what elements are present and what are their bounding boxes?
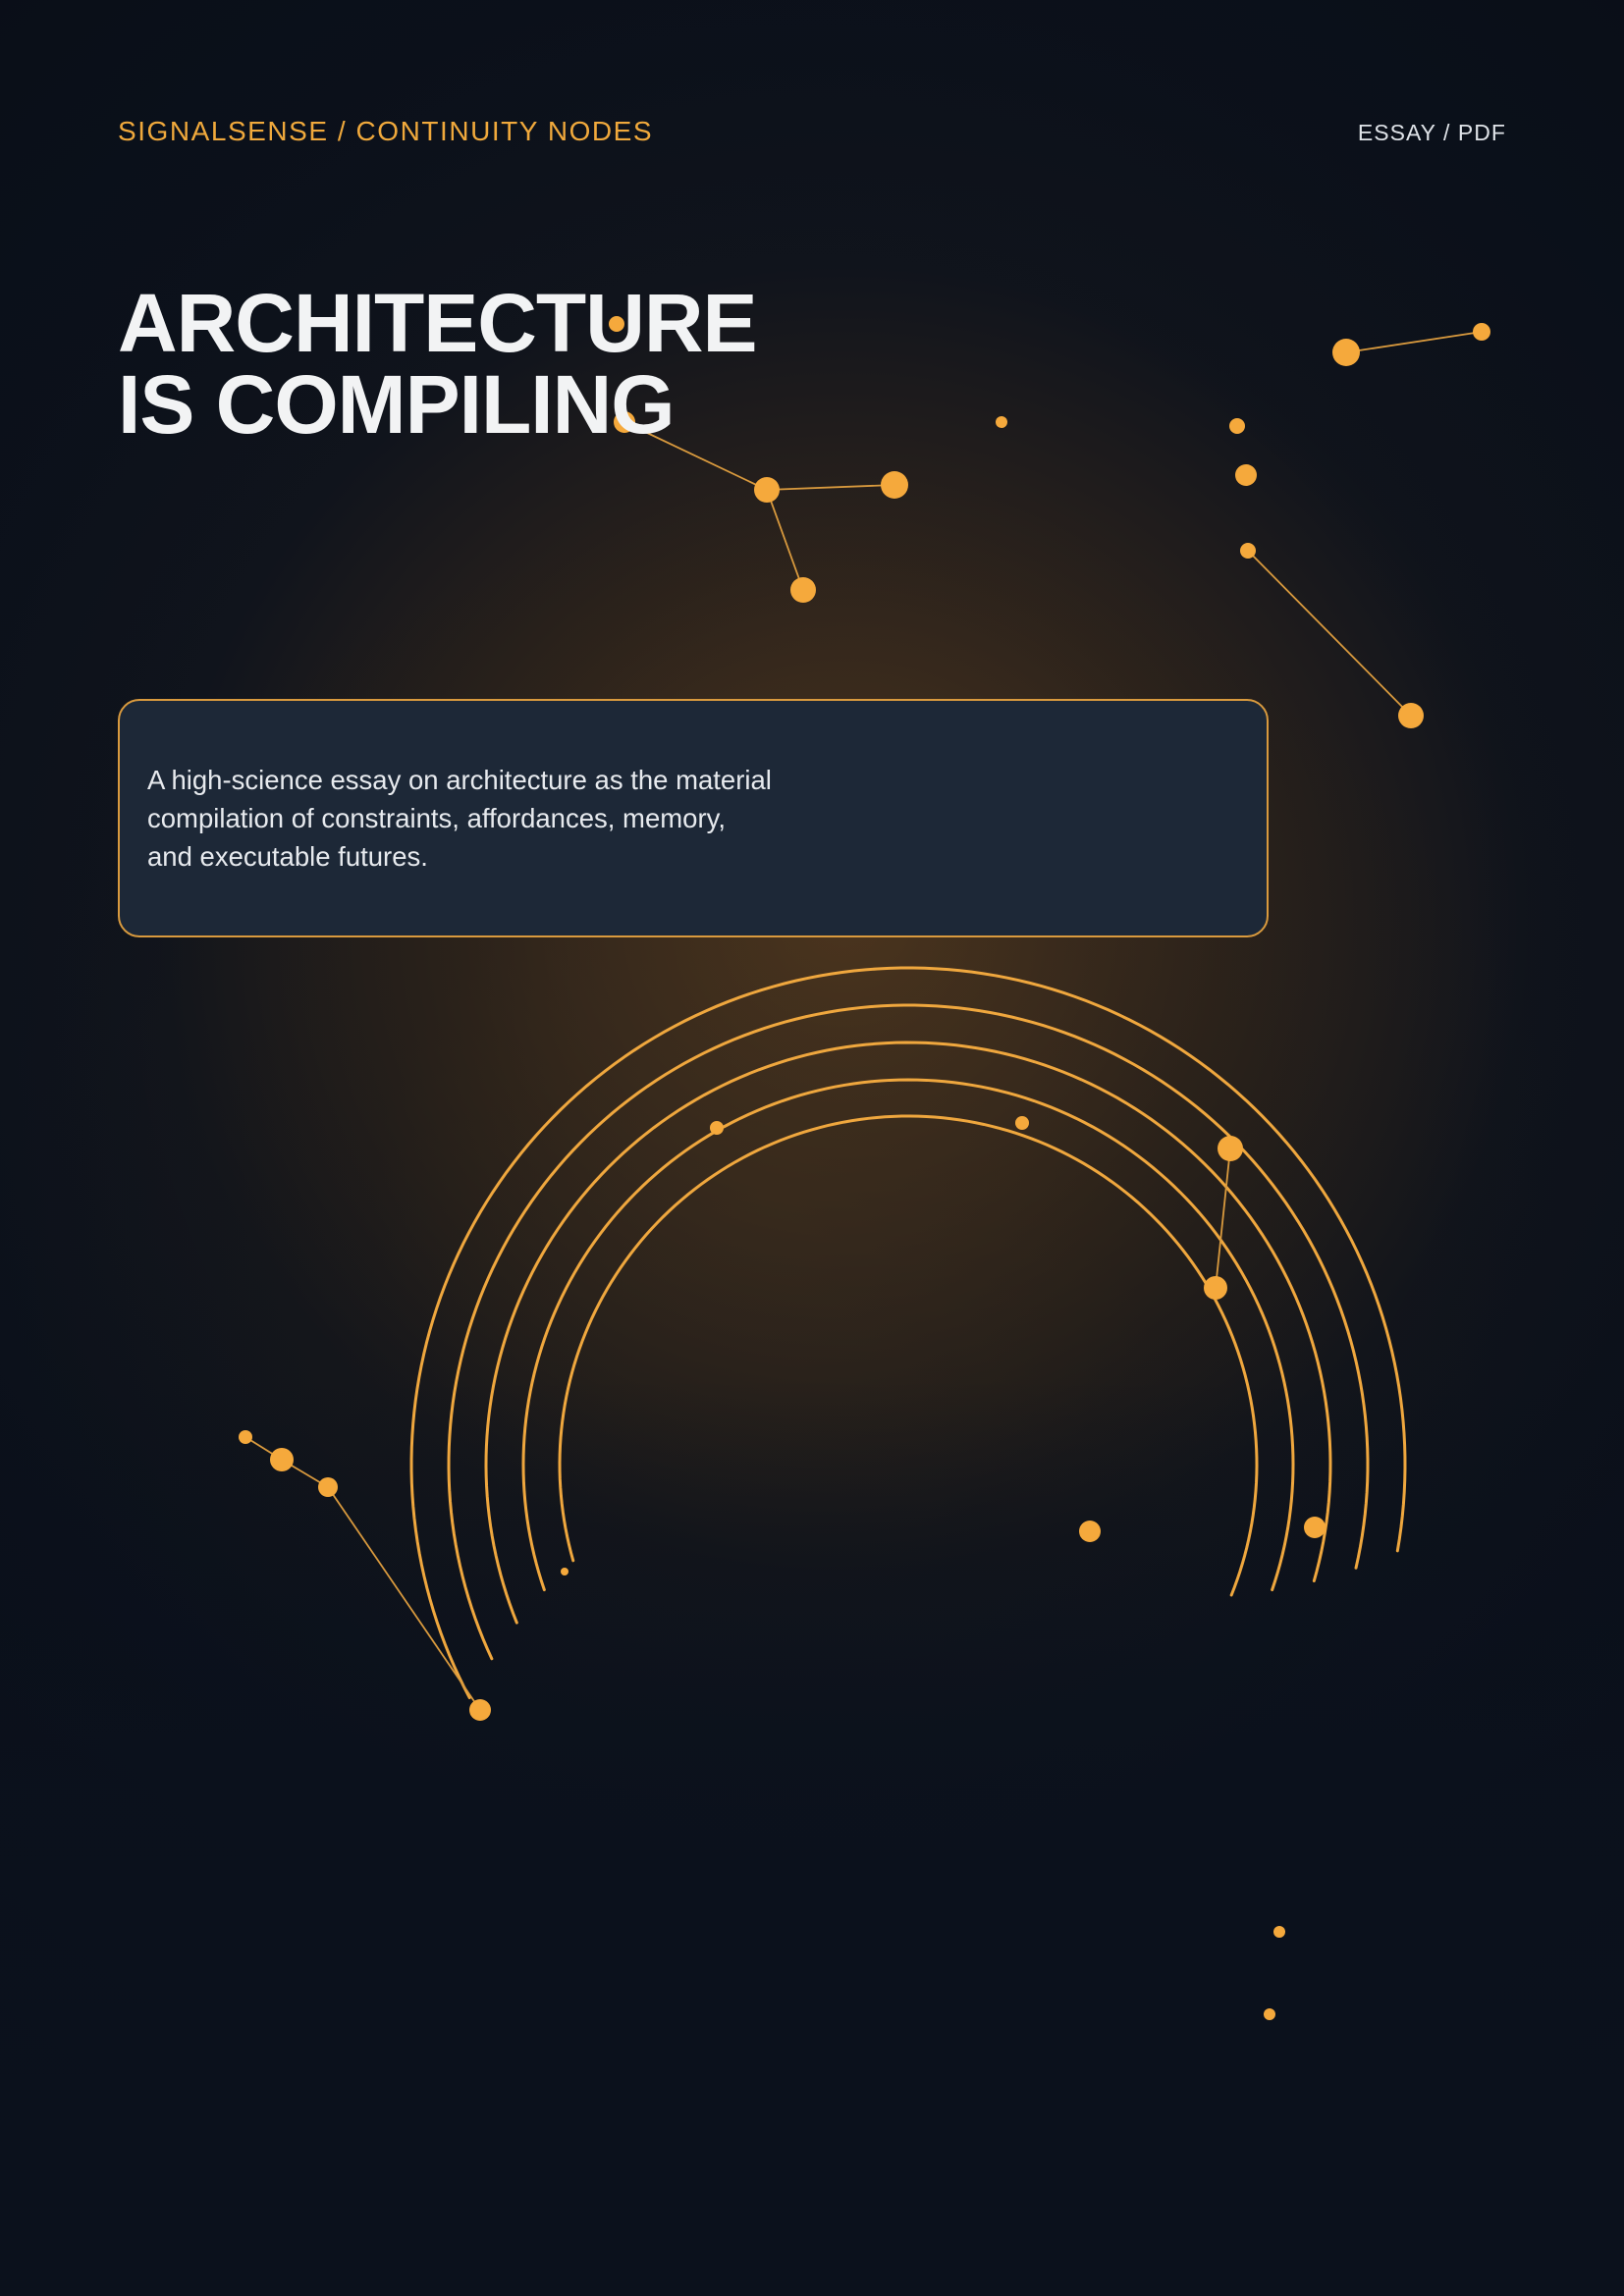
abstract-text: A high-science essay on architecture as … <box>120 761 1267 876</box>
header-bar: SIGNALSENSE / CONTINUITY NODES ESSAY / P… <box>118 116 1506 147</box>
brand-kicker: SIGNALSENSE / CONTINUITY NODES <box>118 116 653 147</box>
abstract-line-2: compilation of constraints, affordances,… <box>147 799 1239 837</box>
poster-canvas: SIGNALSENSE / CONTINUITY NODES ESSAY / P… <box>0 0 1624 2296</box>
page-title: ARCHITECTUREIS COMPILING <box>118 283 1080 446</box>
abstract-line-1: A high-science essay on architecture as … <box>147 761 1239 799</box>
title-line-2: IS COMPILING <box>118 364 1080 446</box>
background-bottom-fade <box>0 1377 1624 2296</box>
abstract-card: A high-science essay on architecture as … <box>118 699 1269 937</box>
title-line-1: ARCHITECTURE <box>118 283 1080 364</box>
document-type-label: ESSAY / PDF <box>1358 120 1506 146</box>
abstract-line-3: and executable futures. <box>147 837 1239 876</box>
